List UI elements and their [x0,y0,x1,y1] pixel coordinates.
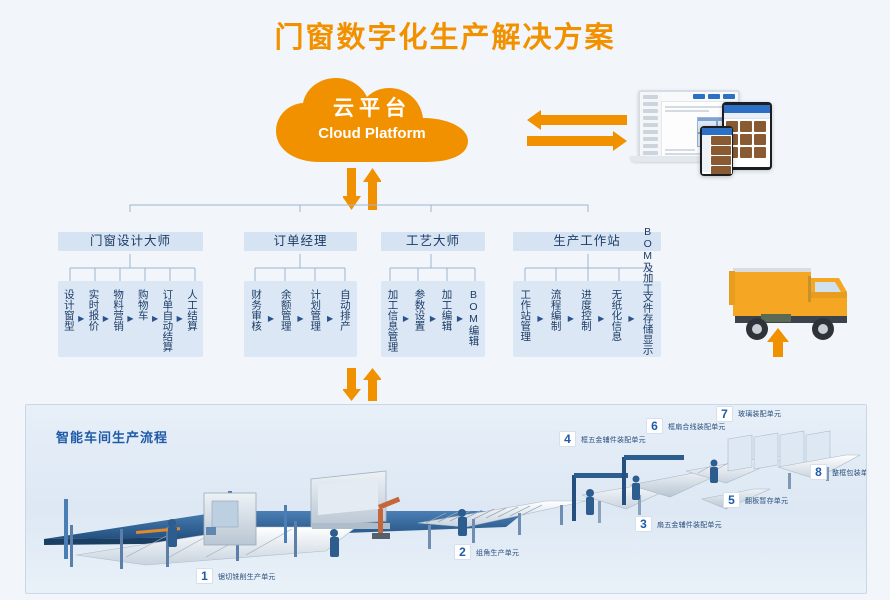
module-item[interactable]: 计划管理 [309,289,321,331]
module-item-label: 工作站管理 [519,289,531,342]
chevron-right-icon: ▶ [537,314,543,323]
module-item[interactable]: 加工信息管理 [386,289,398,352]
module-item-label: 参数设置 [413,289,425,331]
cloud-device-arrows [527,110,627,156]
module-item[interactable]: 人工结算 [186,289,198,331]
module-item-label-column: BOM及加工 [642,226,654,292]
cloud-icon [262,76,482,168]
module-item[interactable]: 进度控制 [580,289,592,331]
chevron-right-icon: ▶ [403,314,409,323]
chevron-right-icon: ▶ [78,314,84,323]
chevron-right-icon: ▶ [628,314,634,323]
module-item-label: BOM编辑 [467,289,479,346]
module-item[interactable]: 设计窗型 [63,289,75,331]
module-item-label: 自动排产 [339,289,351,331]
production-line-illustration [26,405,866,593]
unit-number-8: 8 [810,464,827,480]
module-group-1[interactable]: 订单经理 财务审核 ▶ 余额管理 ▶ 计划管理 ▶ 自动排产 [244,232,357,251]
chevron-right-icon: ▶ [327,314,333,323]
unit-label-5: 翻板暂存单元 [745,496,788,506]
module-item-label: 购物车 [137,289,149,321]
unit-number-4: 4 [559,431,576,447]
module-group-2[interactable]: 工艺大师 加工信息管理 ▶ 参数设置 ▶ 加工编辑 ▶ BOM编辑 [381,232,485,251]
solution-diagram: 门窗数字化生产解决方案 云平台 Cloud Platform [0,0,890,600]
chevron-right-icon: ▶ [127,314,133,323]
module-item[interactable]: 实时报价 [87,289,99,331]
truck-icon [715,258,870,358]
unit-label-4: 框五金辅件装配单元 [581,435,646,445]
unit-number-1: 1 [196,568,213,584]
unit-number-3: 3 [635,516,652,532]
unit-number-5: 5 [723,492,740,508]
module-group-items: 设计窗型 ▶ 实时报价 ▶ 物料营销 ▶ 购物车 ▶ 订单自动结算 ▶ 人工结算 [58,281,203,357]
unit-label-7: 玻璃装配单元 [738,409,781,419]
module-item-label: 计划管理 [309,289,321,331]
module-group-title: 工艺大师 [381,232,485,251]
module-item-label: 余额管理 [280,289,292,331]
module-item[interactable]: BOM编辑 [467,289,479,346]
unit-label-3: 扇五金辅件装配单元 [657,520,722,530]
chevron-right-icon: ▶ [103,314,109,323]
chevron-right-icon: ▶ [430,314,436,323]
smart-workshop-panel: 智能车间生产流程 [25,404,867,594]
module-item[interactable]: 工作站管理 [519,289,531,342]
chevron-right-icon: ▶ [457,314,463,323]
module-item-label: 人工结算 [186,289,198,331]
module-item-label: 订单自动结算 [161,289,173,352]
module-item-label: 财务审核 [250,289,262,331]
module-item-label: 加工编辑 [440,289,452,331]
module-item[interactable]: 文件存储显示BOM及加工 [641,289,655,355]
module-item-label: 无纸化信息 [610,289,622,342]
module-item[interactable]: 购物车 [137,289,149,321]
module-factory-arrows [343,368,381,402]
module-item-label: 加工信息管理 [386,289,398,352]
module-item[interactable]: 物料营销 [112,289,124,331]
module-group-items: 加工信息管理 ▶ 参数设置 ▶ 加工编辑 ▶ BOM编辑 [381,281,485,357]
module-group-items: 工作站管理 ▶ 流程编制 ▶ 进度控制 ▶ 无纸化信息 ▶ 文件存储显示BOM及… [513,281,661,357]
unit-label-8: 整框包装单元 [832,468,867,478]
module-item-label-column: 文件存储显示 [642,292,654,355]
unit-number-2: 2 [454,544,471,560]
module-group-title: 门窗设计大师 [58,232,203,251]
phone-mockup [700,126,733,176]
module-item-label: 文件存储显示BOM及加工 [641,289,655,355]
module-item-label: 物料营销 [112,289,124,331]
chevron-right-icon: ▶ [568,314,574,323]
chevron-right-icon: ▶ [177,314,183,323]
unit-number-7: 7 [716,406,733,422]
module-item[interactable]: 参数设置 [413,289,425,331]
device-mockups [630,88,780,173]
unit-number-6: 6 [646,418,663,434]
module-item[interactable]: 加工编辑 [440,289,452,331]
page-title: 门窗数字化生产解决方案 [0,14,890,56]
module-group-items: 财务审核 ▶ 余额管理 ▶ 计划管理 ▶ 自动排产 [244,281,357,357]
module-item[interactable]: 财务审核 [250,289,262,331]
module-group-0[interactable]: 门窗设计大师 设计窗型 ▶ 实时报价 ▶ 物料营销 ▶ 购物车 ▶ 订单自动结算… [58,232,203,251]
laptop-toolbar [661,92,738,102]
cloud-platform-node: 云平台 Cloud Platform [262,76,482,168]
module-group-title: 订单经理 [244,232,357,251]
module-item[interactable]: 余额管理 [280,289,292,331]
chevron-right-icon: ▶ [152,314,158,323]
module-item[interactable]: 流程编制 [550,289,562,331]
delivery-truck-illustration [715,258,870,358]
module-item-label: 实时报价 [87,289,99,331]
unit-label-2: 组角生产单元 [476,548,519,558]
module-item-label: 进度控制 [580,289,592,331]
module-group-3[interactable]: 生产工作站 工作站管理 ▶ 流程编制 ▶ 进度控制 ▶ 无纸化信息 ▶ 文件存储… [513,232,661,251]
chevron-right-icon: ▶ [268,314,274,323]
unit-label-1: 锯切铣削生产单元 [218,572,276,582]
module-item[interactable]: 订单自动结算 [161,289,173,352]
laptop-sidebar [640,92,662,158]
chevron-right-icon: ▶ [297,314,303,323]
module-item[interactable]: 自动排产 [339,289,351,331]
module-group-title: 生产工作站 [513,232,661,251]
cloud-module-arrows [343,168,381,212]
module-item[interactable]: 无纸化信息 [610,289,622,342]
module-item-label: 设计窗型 [63,289,75,331]
chevron-right-icon: ▶ [598,314,604,323]
unit-label-6: 框扇合线装配单元 [668,422,726,432]
module-item-label: 流程编制 [550,289,562,331]
